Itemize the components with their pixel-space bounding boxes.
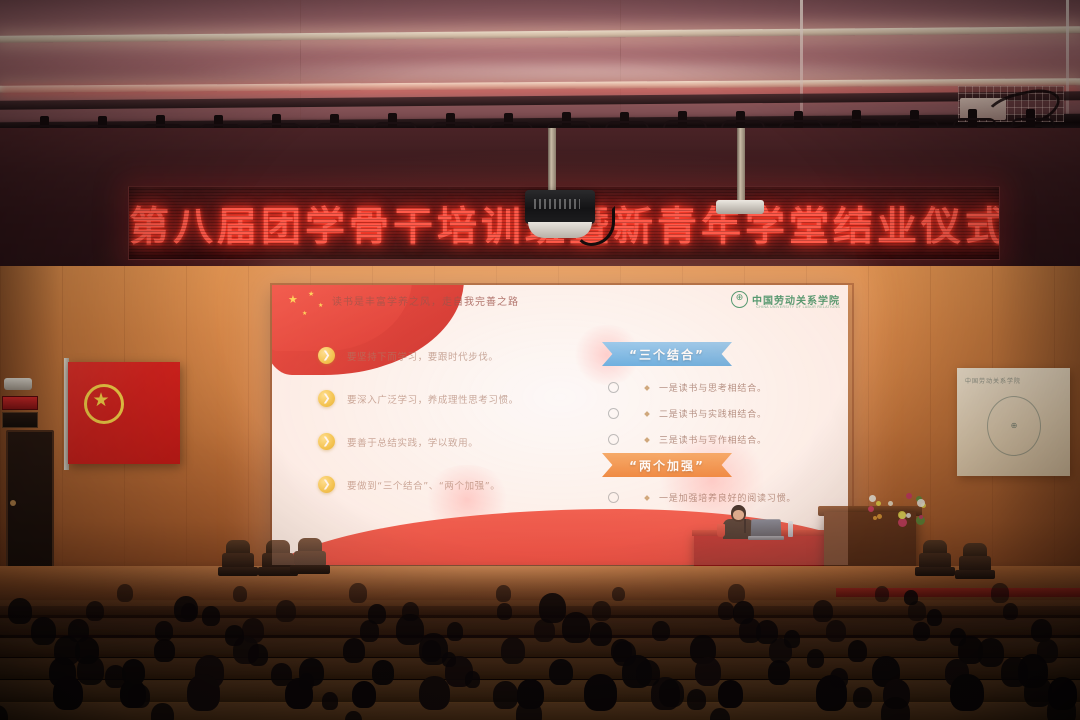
audience-head bbox=[991, 583, 1009, 603]
flower-blossom bbox=[906, 493, 912, 499]
audience-head bbox=[276, 600, 296, 622]
audience-head bbox=[733, 601, 754, 624]
audience-head bbox=[830, 668, 848, 688]
audience-head bbox=[396, 614, 424, 645]
audience-head bbox=[151, 703, 174, 720]
audience-head bbox=[875, 586, 889, 602]
flower-blossom bbox=[919, 515, 923, 519]
audience-head bbox=[187, 674, 220, 711]
audience-head bbox=[549, 659, 573, 686]
audience-head bbox=[1003, 603, 1018, 620]
projector-mount-pole bbox=[737, 128, 745, 206]
audience-head bbox=[1001, 657, 1028, 687]
audience-head bbox=[465, 671, 480, 688]
ceiling-seam bbox=[1066, 0, 1069, 128]
audience-head bbox=[496, 585, 511, 602]
audience-head bbox=[612, 587, 625, 602]
audience-head bbox=[728, 584, 745, 602]
audience-head bbox=[950, 674, 984, 712]
audience-head bbox=[848, 640, 867, 662]
flower-blossom bbox=[917, 499, 925, 507]
audience-head bbox=[343, 638, 365, 663]
flower-blossom bbox=[888, 501, 893, 506]
audience-head bbox=[419, 676, 450, 710]
audience-head bbox=[117, 584, 133, 602]
audience-head bbox=[613, 641, 636, 666]
microphone-stand bbox=[744, 519, 746, 533]
audience-head bbox=[105, 665, 126, 688]
audience-head bbox=[31, 617, 56, 645]
projector-vent bbox=[534, 199, 580, 209]
audience-head bbox=[807, 649, 824, 668]
audience-head bbox=[659, 679, 684, 707]
emergency-lamp bbox=[4, 378, 32, 390]
audience-head bbox=[447, 622, 463, 640]
audience-head bbox=[202, 606, 220, 626]
plaque-caption: 中国劳动关系学院 bbox=[965, 376, 1021, 385]
audience-head bbox=[174, 596, 198, 622]
audience-head bbox=[784, 630, 800, 648]
youth-league-flag: ★ bbox=[68, 362, 180, 464]
audience-head bbox=[8, 598, 32, 624]
audience-head bbox=[590, 622, 612, 646]
flower-blossom bbox=[898, 511, 906, 519]
audience-head bbox=[652, 621, 670, 641]
flower-blossom bbox=[869, 495, 876, 502]
audience-head bbox=[539, 593, 566, 623]
audience-head bbox=[913, 622, 930, 641]
projector-mount-pole bbox=[548, 128, 556, 190]
audience-head bbox=[826, 620, 846, 642]
audience-head bbox=[950, 628, 966, 646]
audience-head bbox=[54, 636, 80, 665]
audience-head bbox=[516, 700, 542, 720]
audience-head bbox=[368, 604, 386, 624]
audience-head bbox=[225, 625, 244, 646]
flower-blossom bbox=[906, 513, 911, 518]
audience-head bbox=[322, 692, 338, 710]
star-icon: ★ bbox=[92, 392, 110, 410]
audience-head bbox=[372, 660, 394, 684]
audience-head bbox=[592, 601, 611, 622]
audience-head bbox=[718, 680, 743, 708]
flower-blossom bbox=[876, 501, 881, 506]
audience-head bbox=[768, 660, 790, 685]
ceiling bbox=[0, 0, 1080, 128]
projector-bracket bbox=[716, 200, 764, 214]
audience-head bbox=[978, 638, 1004, 667]
audience-head bbox=[695, 657, 721, 686]
audience-head bbox=[352, 681, 376, 708]
exit-sign-secondary bbox=[2, 412, 38, 428]
audience-head bbox=[927, 609, 942, 626]
audience-head bbox=[271, 663, 292, 686]
wall-plaque: 中国劳动关系学院 ⊕ bbox=[957, 368, 1070, 476]
ceiling-light-strip bbox=[0, 26, 1080, 42]
audience-head bbox=[584, 674, 617, 711]
audience-head bbox=[349, 583, 367, 603]
audience-head bbox=[493, 681, 518, 709]
audience-head bbox=[881, 697, 910, 720]
audience-head bbox=[813, 600, 833, 623]
audience-head bbox=[562, 612, 590, 643]
audience-head bbox=[155, 621, 173, 641]
speaker-face bbox=[733, 510, 744, 520]
exit-sign bbox=[2, 396, 38, 410]
audience-head bbox=[419, 633, 448, 665]
audience-head bbox=[756, 620, 778, 644]
water-bottle bbox=[788, 521, 793, 537]
flower-blossom bbox=[877, 514, 882, 519]
audience-head bbox=[636, 660, 660, 686]
laptop-base bbox=[748, 536, 784, 540]
audience-head bbox=[497, 603, 512, 620]
audience-head bbox=[233, 586, 247, 602]
auditorium-photo: 第八届团学骨干培训班暨新青年学堂结业仪式 ★ 中国劳动关系学院 ⊕ ★ ★ ★ … bbox=[0, 0, 1080, 720]
flower-blossom bbox=[898, 518, 907, 527]
audience-head bbox=[687, 689, 706, 710]
audience-head bbox=[501, 637, 525, 664]
ceiling-seam bbox=[800, 0, 803, 128]
audience-head bbox=[154, 639, 175, 662]
audience-head bbox=[299, 673, 314, 690]
plaque-seal-icon: ⊕ bbox=[987, 396, 1041, 456]
podium-flowers bbox=[866, 492, 936, 526]
door-knob-icon[interactable] bbox=[10, 500, 16, 506]
audience-head bbox=[248, 644, 268, 666]
flower-blossom bbox=[868, 506, 874, 512]
audience-head bbox=[853, 687, 872, 708]
thermos-cup bbox=[717, 524, 725, 537]
audience-head bbox=[86, 601, 104, 622]
laptop-screen bbox=[751, 519, 782, 537]
ceiling-glow bbox=[180, 58, 980, 84]
audience-head bbox=[904, 590, 918, 605]
audience-head bbox=[1024, 676, 1052, 707]
audience-head bbox=[718, 602, 734, 620]
audience-head bbox=[128, 684, 150, 708]
audience-head bbox=[77, 655, 104, 685]
